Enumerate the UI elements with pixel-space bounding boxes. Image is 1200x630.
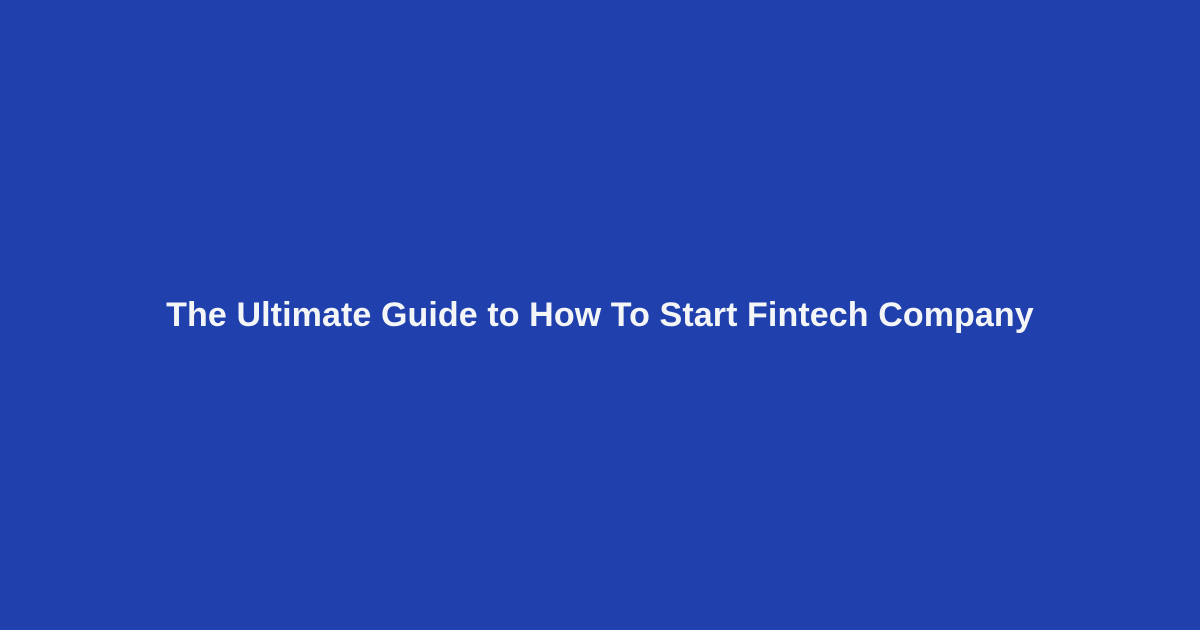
- share-card-content: The Ultimate Guide to How To Start Finte…: [0, 293, 1200, 338]
- share-card: The Ultimate Guide to How To Start Finte…: [0, 0, 1200, 630]
- page-title: The Ultimate Guide to How To Start Finte…: [166, 293, 1034, 338]
